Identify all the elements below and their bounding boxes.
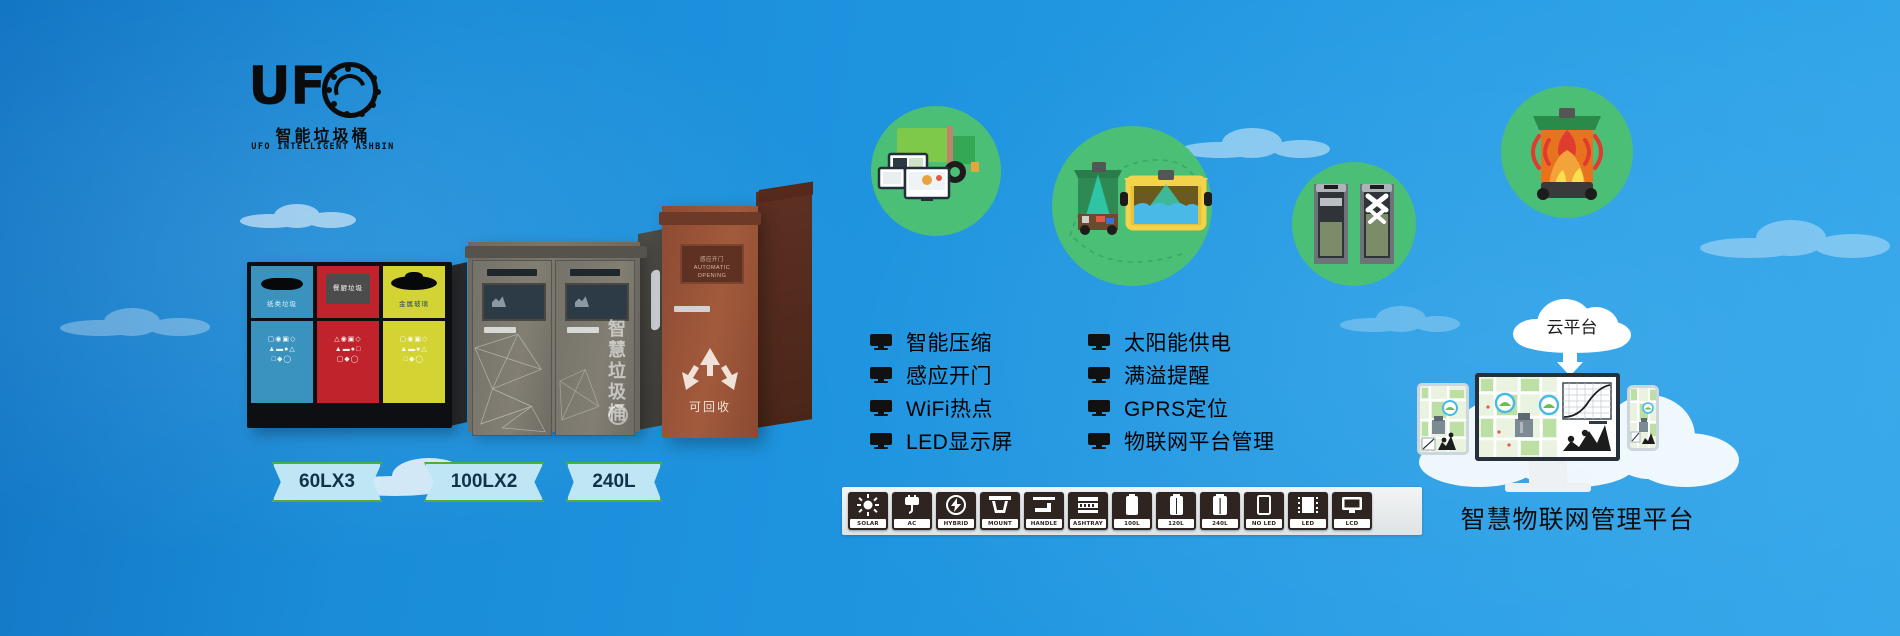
bearing-ring-icon bbox=[322, 62, 378, 118]
option-120l[interactable]: 120L bbox=[1156, 492, 1196, 530]
collection-truck-monitoring-icon bbox=[871, 106, 1001, 236]
bin-display-screen bbox=[482, 283, 546, 321]
geometric-pattern bbox=[473, 329, 551, 437]
bin-side-panel bbox=[756, 183, 812, 428]
lcd-screen-icon bbox=[1332, 492, 1372, 517]
monitor-dashboard-screen bbox=[1479, 377, 1616, 457]
hybrid-power-icon bbox=[936, 492, 976, 517]
capacity-ribbon-240l: 240L bbox=[566, 462, 662, 502]
led-panel-icon bbox=[1288, 492, 1328, 517]
option-led[interactable]: LED bbox=[1288, 492, 1328, 530]
sun-icon bbox=[848, 492, 888, 517]
monitor-icon bbox=[1088, 433, 1110, 449]
logo-wordmark: UF bbox=[248, 60, 325, 113]
phone-map-screen bbox=[1630, 388, 1656, 448]
device-desktop-monitor bbox=[1475, 373, 1620, 461]
iot-platform-illustration: 云平台 bbox=[1405, 295, 1750, 540]
bin-door-left bbox=[472, 260, 552, 436]
monitor-icon bbox=[1088, 334, 1110, 350]
monitor-icon bbox=[870, 334, 892, 350]
feature-item: LED显示屏 bbox=[870, 424, 1070, 457]
bin-cell-paper: 纸类垃圾 ▢◉▣◇▲▬●△□◆◯ bbox=[251, 266, 313, 424]
bin-front-panel: 感应开门 AUTOMATIC OPENING 可回收 bbox=[662, 206, 758, 438]
bin-topstrip bbox=[570, 269, 620, 276]
logo-english-name: UFO INTELLIGENT ASHBIN bbox=[248, 142, 398, 152]
blank-panel-icon bbox=[1244, 492, 1284, 517]
bin-cell-label: 金属玻璃 bbox=[383, 298, 445, 308]
option-icon-strip: SOLAR AC HYBRID MOUNT HANDL bbox=[842, 487, 1422, 535]
feature-item: 感应开门 bbox=[870, 358, 1070, 391]
fill-level-sensor-icon bbox=[1052, 126, 1212, 286]
bin-recycle-label: 可回收 bbox=[662, 398, 758, 415]
bin-100l-icon bbox=[1112, 492, 1152, 517]
recycle-symbol-icon bbox=[678, 346, 742, 398]
option-100l[interactable]: 100L bbox=[1112, 492, 1152, 530]
option-mount[interactable]: MOUNT bbox=[980, 492, 1020, 530]
bin-cell-metal-glass: 金属玻璃 ▢◉▣◇▲▬●△□◆◯ bbox=[383, 266, 445, 424]
device-smartphone bbox=[1627, 385, 1659, 451]
feature-item: 太阳能供电 bbox=[1088, 325, 1318, 358]
feature-circle-compression bbox=[1292, 162, 1416, 286]
product-bin-smart-double: 智慧垃圾桶 bbox=[468, 232, 674, 440]
option-solar[interactable]: SOLAR bbox=[848, 492, 888, 530]
bin-window-text: 感应开门 AUTOMATIC OPENING bbox=[682, 256, 742, 280]
bin-cell-kitchen: 餐厨垃圾 △◉▣◇▲▬●□▢◆◯ bbox=[317, 266, 379, 424]
monitor-icon bbox=[870, 433, 892, 449]
capacity-label: 60LX3 bbox=[299, 471, 355, 493]
capacity-ribbon-100lx2: 100LX2 bbox=[424, 462, 544, 502]
feature-circle-fire-alarm bbox=[1501, 86, 1633, 218]
capacity-ribbon-60lx3: 60LX3 bbox=[272, 462, 382, 502]
bin-cap bbox=[659, 212, 761, 225]
cloud-platform-label: 云平台 bbox=[1513, 313, 1631, 338]
bin-120l-icon bbox=[1156, 492, 1196, 517]
platform-title: 智慧物联网管理平台 bbox=[1385, 500, 1770, 536]
fire-alarm-detection-icon bbox=[1501, 86, 1633, 218]
bin-handle bbox=[674, 306, 710, 312]
cloud-decoration bbox=[240, 196, 360, 236]
power-plug-icon bbox=[892, 492, 932, 517]
monitor-icon bbox=[870, 367, 892, 383]
product-bin-recycle-single: 感应开门 AUTOMATIC OPENING 可回收 bbox=[662, 192, 820, 444]
cloud-decoration bbox=[60, 300, 210, 342]
bin-cap bbox=[465, 246, 647, 258]
option-handle[interactable]: HANDLE bbox=[1024, 492, 1064, 530]
feature-column-right: 太阳能供电 满溢提醒 GPRS定位 物联网平台管理 bbox=[1088, 325, 1318, 457]
monitor-icon bbox=[870, 400, 892, 416]
bin-display-screen bbox=[565, 283, 629, 321]
handle-icon bbox=[1024, 492, 1064, 517]
product-bin-3-compartment: 纸类垃圾 ▢◉▣◇▲▬●△□◆◯ 餐厨垃圾 △◉▣◇▲▬●□▢◆◯ bbox=[247, 262, 467, 434]
ashtray-icon bbox=[1068, 492, 1108, 517]
bin-side-window bbox=[651, 269, 660, 331]
monitor-icon bbox=[1088, 400, 1110, 416]
bin-brand-mark bbox=[608, 405, 628, 425]
monitor-stand bbox=[1529, 461, 1567, 485]
bin-body: 纸类垃圾 ▢◉▣◇▲▬●△□◆◯ 餐厨垃圾 △◉▣◇▲▬●□▢◆◯ bbox=[247, 262, 452, 428]
bin-topstrip bbox=[487, 269, 537, 276]
option-ac[interactable]: AC bbox=[892, 492, 932, 530]
capacity-label: 240L bbox=[592, 471, 635, 493]
capacity-label: 100LX2 bbox=[451, 471, 518, 493]
device-tablet bbox=[1417, 383, 1469, 455]
option-240l[interactable]: 240L bbox=[1200, 492, 1240, 530]
tablet-map-screen bbox=[1420, 386, 1466, 452]
waste-compression-icon bbox=[1292, 162, 1416, 286]
bin-side-panel bbox=[450, 262, 467, 426]
feature-item: 智能压缩 bbox=[870, 325, 1070, 358]
feature-circle-fill-level bbox=[1052, 126, 1212, 286]
option-hybrid[interactable]: HYBRID bbox=[936, 492, 976, 530]
feature-column-left: 智能压缩 感应开门 WiFi热点 LED显示屏 bbox=[870, 325, 1070, 457]
feature-circle-collection-truck bbox=[871, 106, 1001, 236]
feature-item: 满溢提醒 bbox=[1088, 358, 1318, 391]
option-lcd[interactable]: LCD bbox=[1332, 492, 1372, 530]
bin-door-right: 智慧垃圾桶 bbox=[555, 260, 635, 436]
bin-body: 智慧垃圾桶 bbox=[468, 242, 640, 432]
feature-item: GPRS定位 bbox=[1088, 391, 1318, 424]
option-ashtray[interactable]: ASHTRAY bbox=[1068, 492, 1108, 530]
monitor-base bbox=[1505, 483, 1591, 492]
product-banner: UF 智能垃圾桶 UFO INTELLIGENT ASHBIN 纸类垃圾 bbox=[0, 0, 1900, 636]
cloud-label-bubble: 云平台 bbox=[1513, 295, 1631, 353]
bin-cell-label: 餐厨垃圾 bbox=[317, 282, 379, 292]
monitor-icon bbox=[1088, 367, 1110, 383]
bin-240l-icon bbox=[1200, 492, 1240, 517]
feature-item: WiFi热点 bbox=[870, 391, 1070, 424]
cloud-decoration bbox=[1700, 210, 1890, 264]
wall-mount-icon bbox=[980, 492, 1020, 517]
feature-item: 物联网平台管理 bbox=[1088, 424, 1318, 457]
option-no-led[interactable]: NO LED bbox=[1244, 492, 1284, 530]
bin-display-window: 感应开门 AUTOMATIC OPENING bbox=[680, 244, 744, 284]
bin-cell-label: 纸类垃圾 bbox=[251, 298, 313, 308]
brand-logo: UF 智能垃圾桶 UFO INTELLIGENT ASHBIN bbox=[248, 58, 398, 163]
